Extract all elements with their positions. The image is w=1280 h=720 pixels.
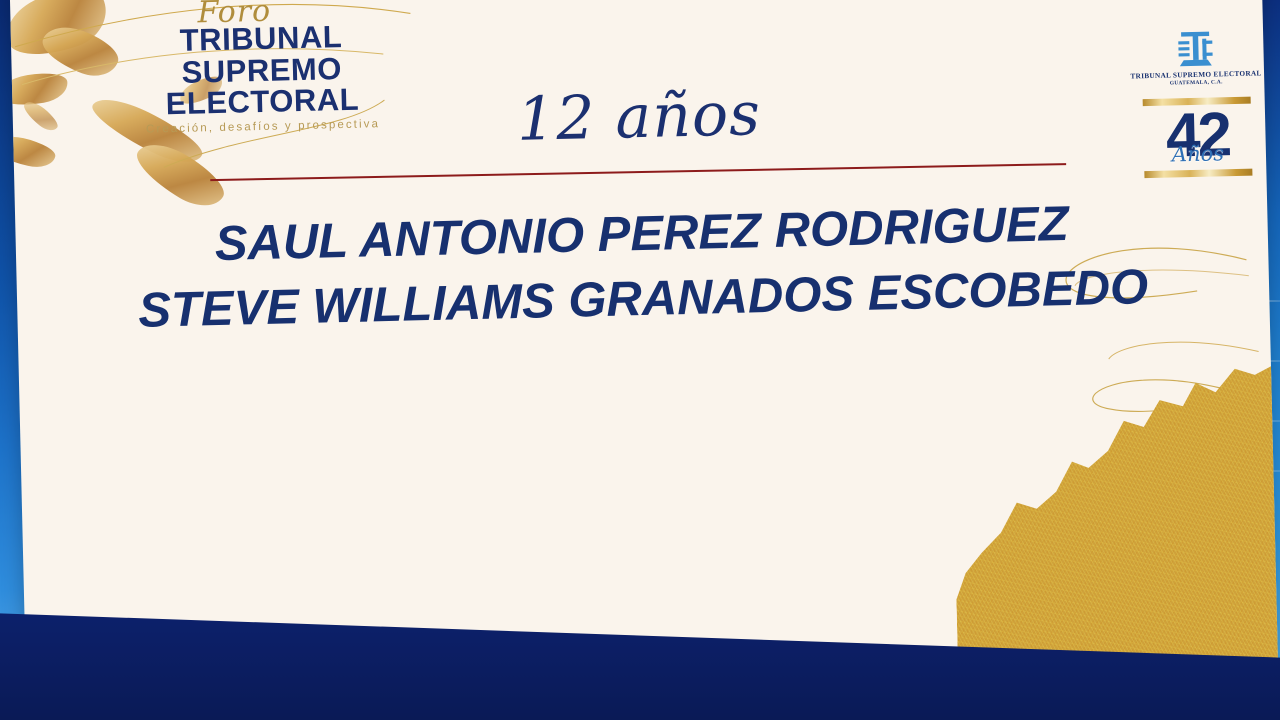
honoree-names: SAUL ANTONIO PEREZ RODRIGUEZ STEVE WILLI…	[15, 187, 1270, 346]
gold-bar-bottom	[1144, 169, 1252, 179]
slide-canvas: Foro TRIBUNAL SUPREMO ELECTORAL Creación…	[0, 0, 1280, 720]
tse-monogram-icon	[1169, 28, 1222, 69]
badge-word: Años	[1144, 141, 1253, 168]
divider-rule	[210, 163, 1066, 181]
slide-card: Foro TRIBUNAL SUPREMO ELECTORAL Creación…	[10, 0, 1279, 707]
